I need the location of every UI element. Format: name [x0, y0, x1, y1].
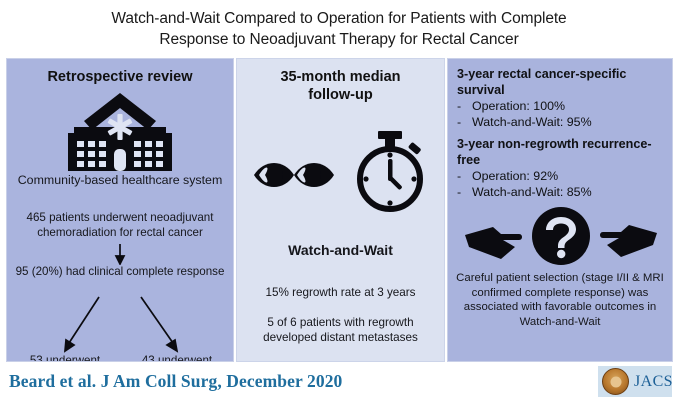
arrow-down-icon [103, 243, 137, 265]
page-title-line1: Watch-and-Wait Compared to Operation for… [30, 8, 648, 29]
question-mark-icon [463, 207, 659, 269]
stat-item: - Watch-and-Wait: 85% [457, 184, 669, 200]
stat-label: Operation: 92% [472, 168, 558, 184]
stat-item: - Operation: 92% [457, 168, 669, 184]
page-title: Watch-and-Wait Compared to Operation for… [30, 8, 648, 50]
flow-step-1: 465 patients underwent neoadjuvant chemo… [13, 211, 227, 240]
left-panel-heading: Retrospective review [7, 68, 233, 86]
jacs-logo-text: JACS [634, 373, 673, 391]
flow-step-3-watch-and-wait: 53 underwent watch-and-wait [13, 354, 117, 362]
middle-heading-line2: follow-up [237, 86, 444, 104]
stat-dash: - [457, 114, 472, 130]
middle-section-title: Watch-and-Wait [237, 241, 444, 259]
stat-heading: 3-year non-regrowth recurrence-free [457, 137, 669, 168]
stat-heading: 3-year rectal cancer-specific survival [457, 67, 669, 98]
stat-label: Watch-and-Wait: 85% [472, 184, 592, 200]
left-panel-subtitle: Community-based healthcare system [7, 173, 233, 188]
panel-follow-up: 35-month median follow-up [236, 58, 445, 362]
page-title-line2: Response to Neoadjuvant Therapy for Rect… [30, 29, 648, 50]
middle-panel-heading: 35-month median follow-up [237, 68, 444, 104]
infographic-canvas: Watch-and-Wait Compared to Operation for… [0, 0, 678, 400]
hospital-icon [58, 91, 182, 171]
stat-item: - Watch-and-Wait: 95% [457, 114, 669, 130]
panel-retrospective-review: Retrospective review [6, 58, 234, 362]
stopwatch-icon [349, 123, 431, 215]
middle-heading-line1: 35-month median [237, 68, 444, 86]
flow-step-3-operation: 43 underwent operation [125, 354, 229, 362]
stat-dash: - [457, 98, 472, 114]
jacs-logo: JACS [598, 366, 672, 397]
flow-step-2: 95 (20%) had clinical complete response [15, 265, 225, 280]
stat-block-survival: 3-year rectal cancer-specific survival -… [457, 67, 669, 130]
jacs-seal-icon [602, 368, 629, 395]
stat-label: Operation: 100% [472, 98, 565, 114]
stat-dash: - [457, 168, 472, 184]
citation-text: Beard et al. J Am Coll Surg, December 20… [9, 371, 342, 392]
middle-stat-line-2: 5 of 6 patients with regrowth developed … [241, 315, 440, 345]
stat-block-recurrence: 3-year non-regrowth recurrence-free - Op… [457, 137, 669, 200]
right-panel-caption: Careful patient selection (stage I/II & … [454, 271, 666, 329]
stat-label: Watch-and-Wait: 95% [472, 114, 592, 130]
stat-dash: - [457, 184, 472, 200]
panel-outcomes: 3-year rectal cancer-specific survival -… [447, 58, 673, 362]
middle-stat-line-1: 15% regrowth rate at 3 years [241, 285, 440, 300]
arrow-split-icons [27, 295, 213, 355]
stat-item: - Operation: 100% [457, 98, 669, 114]
eye-icon [251, 151, 335, 199]
